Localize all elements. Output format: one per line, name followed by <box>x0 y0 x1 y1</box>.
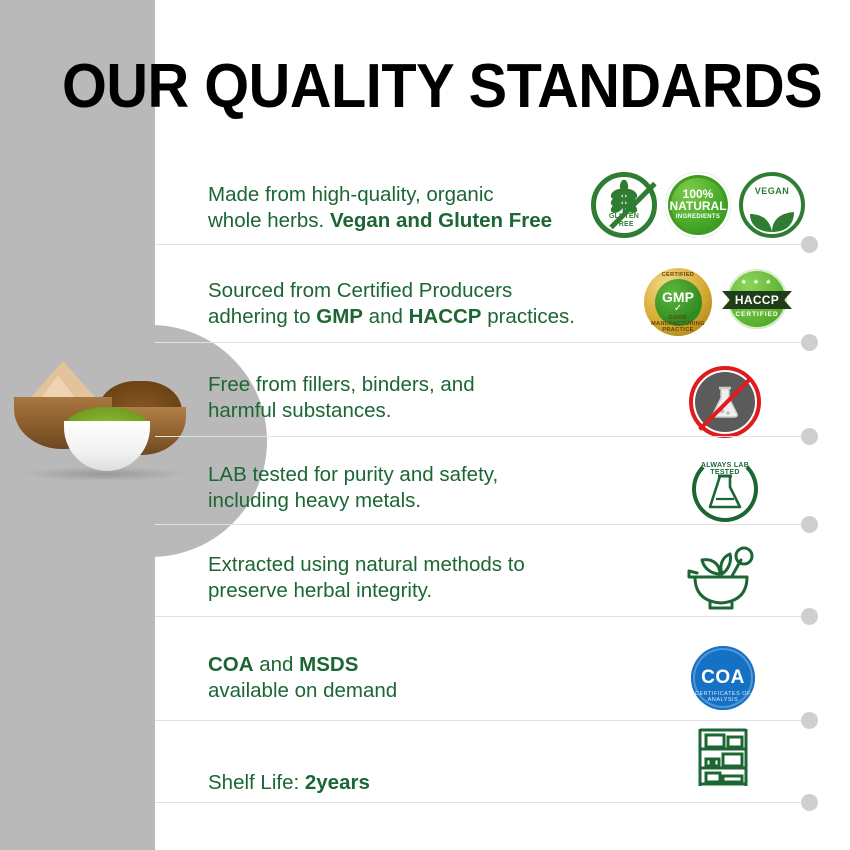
standard-row-1: Made from high-quality, organic whole he… <box>155 170 850 250</box>
100-natural-ingredients-badge: 100% NATURAL INGREDIENTS <box>665 172 731 238</box>
standard-row-6-line2: available on demand <box>208 679 397 702</box>
gmp-label: GMP <box>662 290 694 304</box>
standard-row-2-line1: Sourced from Certified Producers <box>208 279 512 302</box>
standard-row-6-msds: MSDS <box>299 653 358 676</box>
leaf-icon <box>743 200 801 234</box>
standard-row-1-line2-normal: whole herbs. <box>208 209 330 232</box>
standard-row-2: Sourced from Certified Producers adherin… <box>155 268 850 348</box>
row-divider-dot-2 <box>801 334 818 351</box>
standard-row-7-icons <box>693 726 753 788</box>
always-lab-tested-badge: ALWAYS LAB TESTED <box>692 456 758 522</box>
standard-row-3-line1: Free from fillers, binders, and <box>208 373 475 396</box>
standard-row-4-icons: ALWAYS LAB TESTED <box>692 456 758 522</box>
haccp-certified-label: CERTIFIED <box>722 311 792 318</box>
standard-row-5-icons <box>682 546 760 612</box>
standard-row-5-text: Extracted using natural methods to prese… <box>208 552 525 604</box>
gmp-practice-label: GOOD MANUFACTURING PRACTICE <box>644 315 712 333</box>
standard-row-6: COA and MSDS available on demand COA CER… <box>155 644 850 728</box>
row-divider-5 <box>155 616 807 617</box>
standard-row-7: Shelf Life: 2years <box>155 726 850 806</box>
standard-row-1-text: Made from high-quality, organic whole he… <box>208 182 552 234</box>
row-divider-7 <box>155 802 807 803</box>
coa-badge: COA CERTIFICATES OF ANALYSIS <box>691 646 755 710</box>
gmp-check-icon: ✓ <box>674 304 682 314</box>
standard-row-3: Free from fillers, binders, and harmful … <box>155 364 850 442</box>
standard-row-7-text: Shelf Life: 2years <box>208 770 370 796</box>
standard-row-2-p0: adhering to <box>208 305 316 328</box>
natural-ingredients-label: INGREDIENTS <box>676 213 720 222</box>
mortar-pestle-icon <box>682 546 760 612</box>
standard-row-1-icons: GLUTEN FREE 100% NATURAL INGREDIENTS VEG… <box>591 172 805 238</box>
standard-row-1-line2-bold: Vegan and Gluten Free <box>330 209 552 232</box>
standard-row-7-label: Shelf Life: <box>208 771 305 794</box>
standard-row-6-and: and <box>254 653 300 676</box>
storage-shelf-icon <box>693 726 753 788</box>
gmp-certified-top-label: CERTIFIED <box>644 272 712 278</box>
row-divider-4 <box>155 524 807 525</box>
row-divider-dot-7 <box>801 794 818 811</box>
vegan-badge: VEGAN <box>739 172 805 238</box>
haccp-certified-badge: ★ ★ ★ HACCP CERTIFIED <box>722 269 792 335</box>
row-divider-dot-5 <box>801 608 818 625</box>
coa-sublabel: CERTIFICATES OF ANALYSIS <box>691 691 755 703</box>
standard-row-1-line1: Made from high-quality, organic <box>208 183 494 206</box>
vegan-label: VEGAN <box>743 186 801 196</box>
standard-row-4-text: LAB tested for purity and safety, includ… <box>208 462 498 514</box>
infographic-page: OUR QUALITY STANDARDS Made from high-qua… <box>0 0 850 850</box>
standard-row-2-gmp: GMP <box>316 305 363 328</box>
row-divider-6 <box>155 720 807 721</box>
standard-row-3-icons <box>695 372 755 432</box>
row-divider-dot-1 <box>801 236 818 253</box>
standard-row-7-value: 2years <box>305 771 370 794</box>
standard-row-4: LAB tested for purity and safety, includ… <box>155 452 850 532</box>
row-divider-dot-3 <box>801 428 818 445</box>
standard-row-6-coa: COA <box>208 653 254 676</box>
standard-row-5-line2: preserve herbal integrity. <box>208 579 432 602</box>
row-divider-3 <box>155 436 807 437</box>
standard-row-6-text: COA and MSDS available on demand <box>208 652 397 704</box>
standard-row-4-line1: LAB tested for purity and safety, <box>208 463 498 486</box>
lab-flask-icon <box>705 474 745 514</box>
gmp-certified-badge: CERTIFIED GMP ✓ GOOD MANUFACTURING PRACT… <box>644 268 712 336</box>
gluten-free-label: GLUTEN FREE <box>596 213 652 229</box>
standard-row-2-p4: practices. <box>482 305 575 328</box>
haccp-ribbon-label: HACCP <box>722 291 792 309</box>
standard-row-3-text: Free from fillers, binders, and harmful … <box>208 372 475 424</box>
standard-row-2-icons: CERTIFIED GMP ✓ GOOD MANUFACTURING PRACT… <box>644 268 792 336</box>
natural-word-label: NATURAL <box>669 200 726 213</box>
standard-row-4-line2: including heavy metals. <box>208 489 421 512</box>
standard-row-6-icons: COA CERTIFICATES OF ANALYSIS <box>691 646 755 710</box>
standards-list: Made from high-quality, organic whole he… <box>0 0 850 850</box>
standard-row-3-line2: harmful substances. <box>208 399 391 422</box>
standard-row-2-text: Sourced from Certified Producers adherin… <box>208 278 575 330</box>
standard-row-5: Extracted using natural methods to prese… <box>155 544 850 624</box>
gluten-free-badge: GLUTEN FREE <box>591 172 657 238</box>
row-divider-2 <box>155 342 807 343</box>
standard-row-5-line1: Extracted using natural methods to <box>208 553 525 576</box>
row-divider-dot-4 <box>801 516 818 533</box>
standard-row-2-haccp: HACCP <box>409 305 482 328</box>
no-chemicals-icon <box>695 372 755 432</box>
standard-row-2-p2: and <box>363 305 409 328</box>
coa-label: COA <box>701 667 745 689</box>
haccp-stars-icon: ★ ★ ★ <box>722 278 792 286</box>
row-divider-1 <box>155 244 807 245</box>
